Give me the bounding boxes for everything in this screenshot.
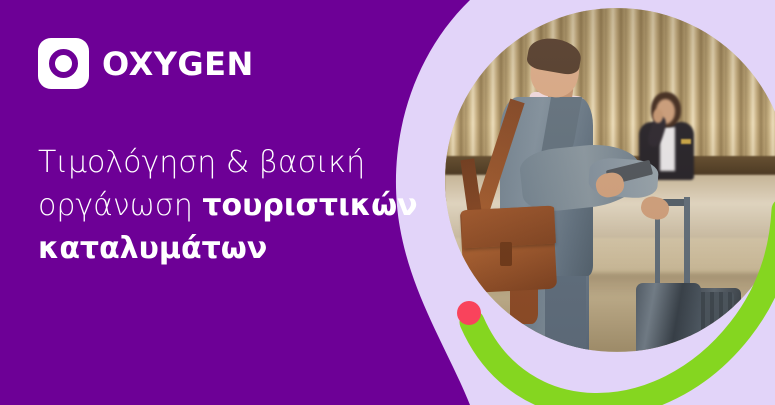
logo-ring-shape bbox=[49, 49, 78, 78]
oxygen-logo[interactable]: OXYGEN bbox=[38, 38, 254, 89]
oxygen-ring-icon bbox=[38, 38, 89, 89]
headline-light-line1: Τιμολόγηση & βασική bbox=[38, 145, 365, 180]
banner-headline: Τιμολόγηση & βασική οργάνωση τουριστικών… bbox=[38, 141, 438, 270]
promo-banner: OXYGEN Τιμολόγηση & βασική οργάνωση τουρ… bbox=[0, 0, 775, 405]
oxygen-wordmark: OXYGEN bbox=[102, 48, 254, 80]
headline-light-line2: οργάνωση bbox=[38, 188, 202, 223]
red-dot-decoration bbox=[457, 301, 481, 325]
